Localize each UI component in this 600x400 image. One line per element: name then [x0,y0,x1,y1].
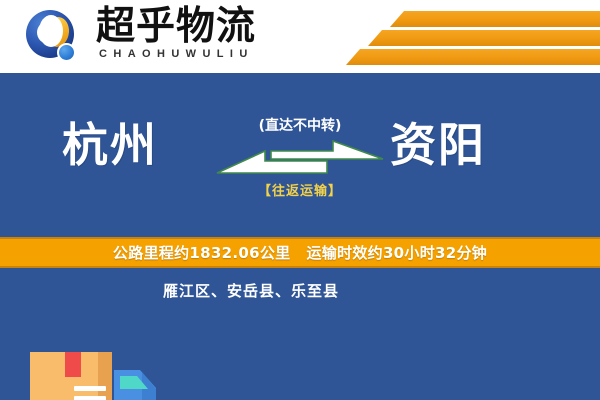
double-headed-arrow-icon [215,139,385,179]
delivery-truck-icon [24,346,176,400]
transit-time-label: 运输时效约30小时32分钟 [306,242,487,263]
brand-name-chinese: 超乎物流 [96,5,256,49]
road-distance-label: 公路里程约1832.06公里 [113,242,291,263]
logo-crescent-cutout-shape [39,15,63,47]
origin-city-label: 杭州 [62,119,158,171]
route-arrow-block: (直达不中转) 【往返运输】 [215,117,385,207]
route-info-bar: 公路里程约1832.06公里 运输时效约30小时32分钟 [0,237,600,268]
round-trip-note: 【往返运输】 [215,183,385,201]
logo-dot-shape [57,43,76,62]
route-panel: 杭州 (直达不中转) 【往返运输】 资阳 公路里程约1832.06公里 运输时效… [0,73,600,400]
header-stripe-2 [368,30,600,46]
logistics-route-banner: 超乎物流 CHAOHUWULIU 杭州 (直达不中转) 【往返运输】 资阳 [0,0,600,400]
destination-city-label: 资阳 [390,119,486,171]
header-stripe-3 [346,49,600,65]
route-row: 杭州 (直达不中转) 【往返运输】 资阳 [0,73,600,237]
header-bar: 超乎物流 CHAOHUWULIU [0,0,600,73]
header-stripe-1 [390,11,600,27]
direct-service-note: (直达不中转) [215,117,385,135]
coverage-row: 雁江区、安岳县、乐至县 [0,268,600,400]
chaohu-logistics-logo-icon [26,10,82,66]
brand-name-pinyin: CHAOHUWULIU [99,48,254,60]
covered-districts-label: 雁江区、安岳县、乐至县 [163,280,339,301]
